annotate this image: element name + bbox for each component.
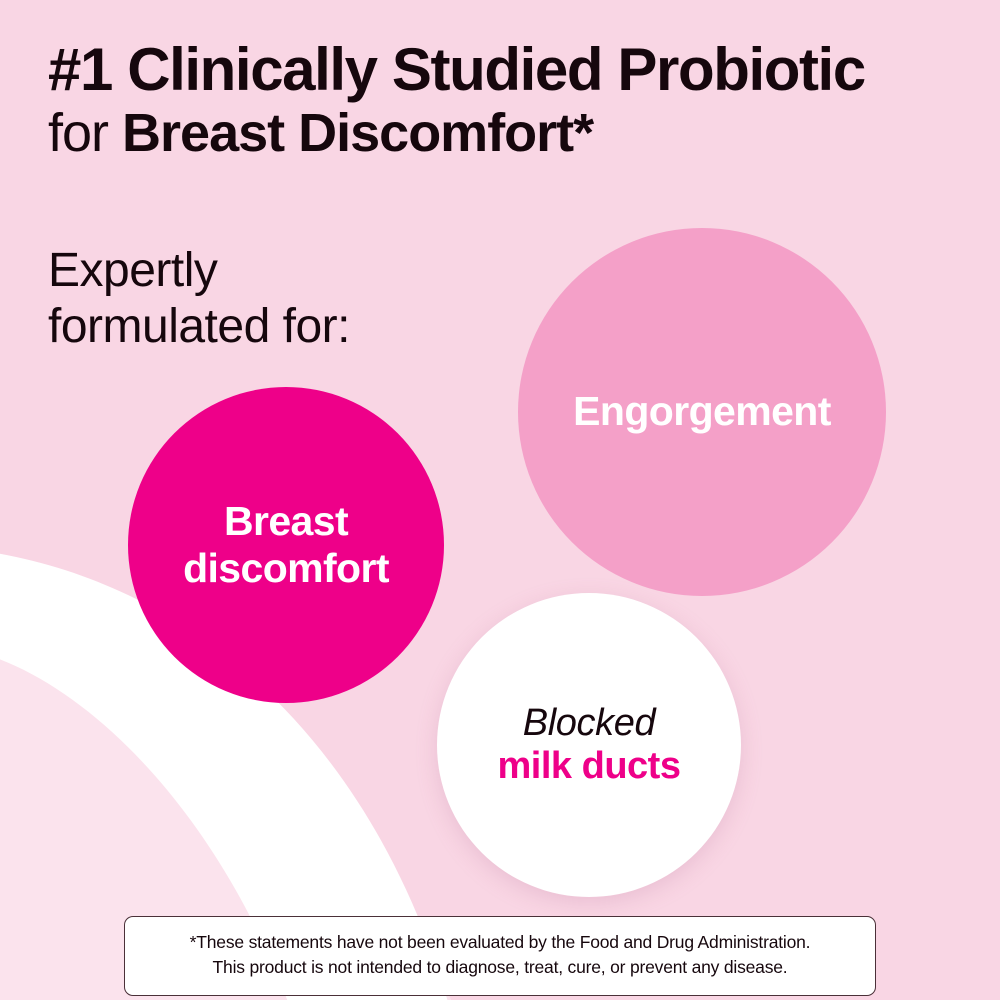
headline-line-2: for Breast Discomfort* xyxy=(48,102,968,166)
bubble-blocked-milk-ducts-line-1: Blocked xyxy=(498,702,681,745)
bubble-breast-discomfort-line-1: Breast xyxy=(224,498,348,544)
bubble-blocked-milk-ducts-line-2: milk ducts xyxy=(498,745,681,788)
headline-line-1: #1 Clinically Studied Probiotic xyxy=(48,38,968,102)
bubble-blocked-milk-ducts-label: Blocked milk ducts xyxy=(498,702,681,789)
headline-line-2-bold: Breast Discomfort* xyxy=(122,103,593,163)
subhead-line-1: Expertly xyxy=(48,243,350,299)
promo-poster: #1 Clinically Studied Probiotic for Brea… xyxy=(0,0,1000,1000)
headline-line-2-light: for xyxy=(48,103,122,163)
subhead-line-2: formulated for: xyxy=(48,299,350,355)
bubble-engorgement-label: Engorgement xyxy=(573,389,831,435)
bubble-breast-discomfort: Breast discomfort xyxy=(128,387,444,703)
disclaimer-box: *These statements have not been evaluate… xyxy=(124,916,876,996)
disclaimer-line-2: This product is not intended to diagnose… xyxy=(141,955,859,980)
bubble-blocked-milk-ducts: Blocked milk ducts xyxy=(437,593,741,897)
headline: #1 Clinically Studied Probiotic for Brea… xyxy=(48,38,968,165)
subhead: Expertly formulated for: xyxy=(48,243,350,354)
disclaimer-line-1: *These statements have not been evaluate… xyxy=(141,930,859,955)
bubble-breast-discomfort-label: Breast discomfort xyxy=(183,498,389,591)
bubble-breast-discomfort-line-2: discomfort xyxy=(183,545,389,591)
bubble-engorgement: Engorgement xyxy=(518,228,886,596)
